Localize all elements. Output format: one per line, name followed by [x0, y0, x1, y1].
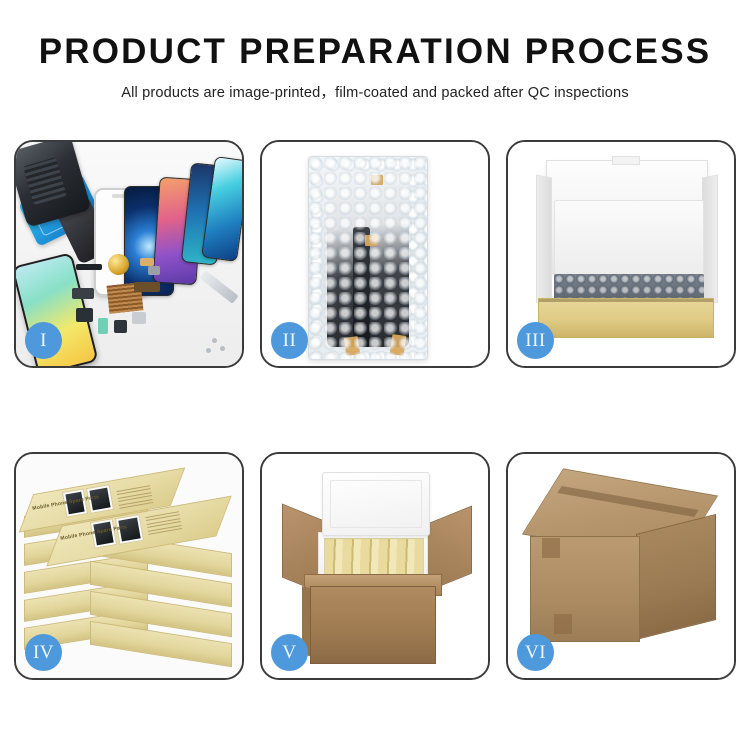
coin-part-icon	[108, 254, 129, 275]
step-badge-6: VI	[517, 634, 554, 671]
foam-box-lid-icon	[322, 472, 430, 536]
carton-front-face-icon	[310, 586, 436, 664]
part-icon-5	[98, 318, 108, 334]
step-badge-4: IV	[25, 634, 62, 671]
process-step-3[interactable]: III	[506, 140, 736, 368]
part-icon-4	[76, 308, 93, 322]
flex-cable-icon	[134, 282, 160, 292]
step-badge-1: I	[25, 322, 62, 359]
kraft-box-base-icon	[538, 298, 714, 338]
step-badge-2: II	[271, 322, 308, 359]
part-icon-9	[148, 266, 160, 275]
step-badge-3: III	[517, 322, 554, 359]
process-step-1[interactable]: I	[14, 140, 244, 368]
part-icon-6	[114, 320, 127, 333]
carton-side-face-icon	[636, 514, 716, 640]
screw-icon-2	[220, 346, 225, 351]
box-lid-tab-icon	[612, 156, 640, 165]
screw-icon-1	[212, 338, 217, 343]
carton-tape-lower-icon	[554, 614, 572, 634]
step-badge-5: V	[271, 634, 308, 671]
process-step-4[interactable]: Mobile Phone Spare Parts Mobile Phone Sp…	[14, 452, 244, 680]
box-left-wall-icon	[536, 174, 552, 305]
page-title: PRODUCT PREPARATION PROCESS	[0, 34, 750, 71]
part-icon-3	[72, 288, 94, 299]
foam-sheet-icon	[554, 200, 704, 280]
part-icon-1	[76, 264, 102, 270]
part-icon-2	[140, 258, 154, 266]
page-subtitle: All products are image-printed，film-coat…	[0, 81, 750, 102]
process-step-5[interactable]: V	[260, 452, 490, 680]
process-step-6[interactable]: VI	[506, 452, 736, 680]
product-preparation-process-page: PRODUCT PREPARATION PROCESS All products…	[0, 0, 750, 750]
process-step-2[interactable]: II	[260, 140, 490, 368]
bubble-wrap-bag-icon	[308, 156, 428, 360]
process-step-grid: I II	[14, 140, 736, 680]
page-header: PRODUCT PREPARATION PROCESS All products…	[0, 0, 750, 102]
box-right-wall-icon	[702, 174, 718, 305]
bubble-texture-overlay	[309, 157, 427, 359]
screw-icon-3	[206, 348, 211, 353]
carton-tape-upper-icon	[542, 538, 560, 558]
tweezers-icon	[199, 270, 238, 304]
part-icon-7	[132, 312, 146, 324]
